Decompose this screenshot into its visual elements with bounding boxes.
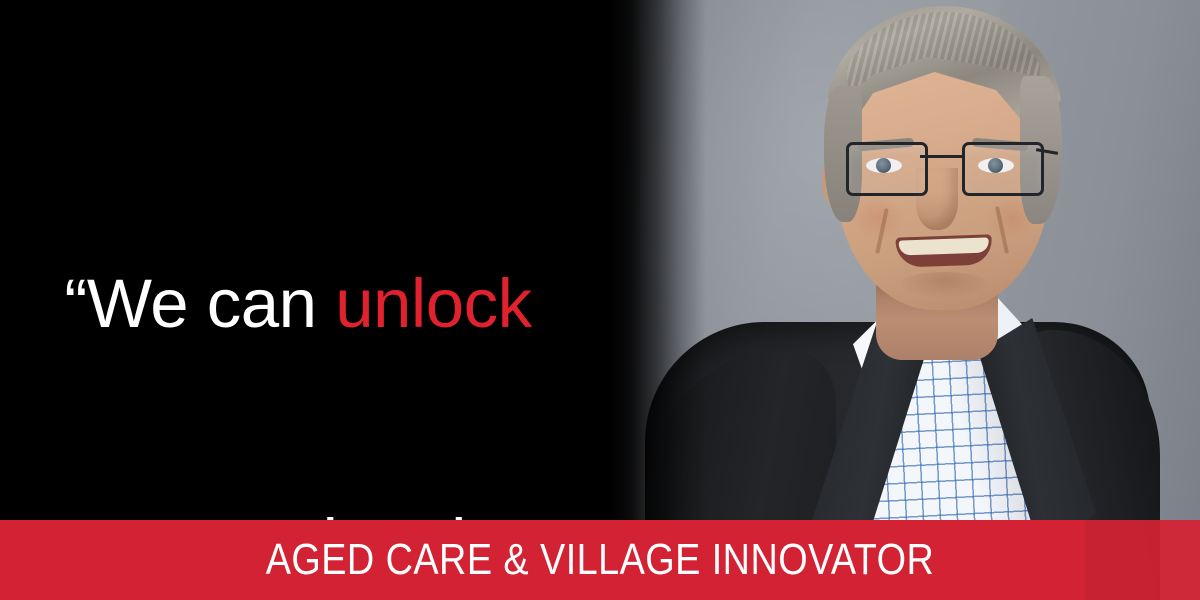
chin-shadow [898,272,990,298]
quote-line-1-text: “We can [64,265,335,342]
glasses-lens-right [962,142,1044,196]
quote-banner-card: “We can unlock operational efficiencies … [0,0,1200,600]
quote-accent-word: unlock [335,265,531,342]
teeth [899,237,989,255]
glasses-bridge [920,155,964,158]
nose [916,168,958,230]
cheek-left [852,196,904,240]
quote-line-1: “We can unlock [28,264,568,344]
black-to-photo-gradient [598,0,706,600]
footer-title: AGED CARE & VILLAGE INNOVATOR [84,520,1116,600]
